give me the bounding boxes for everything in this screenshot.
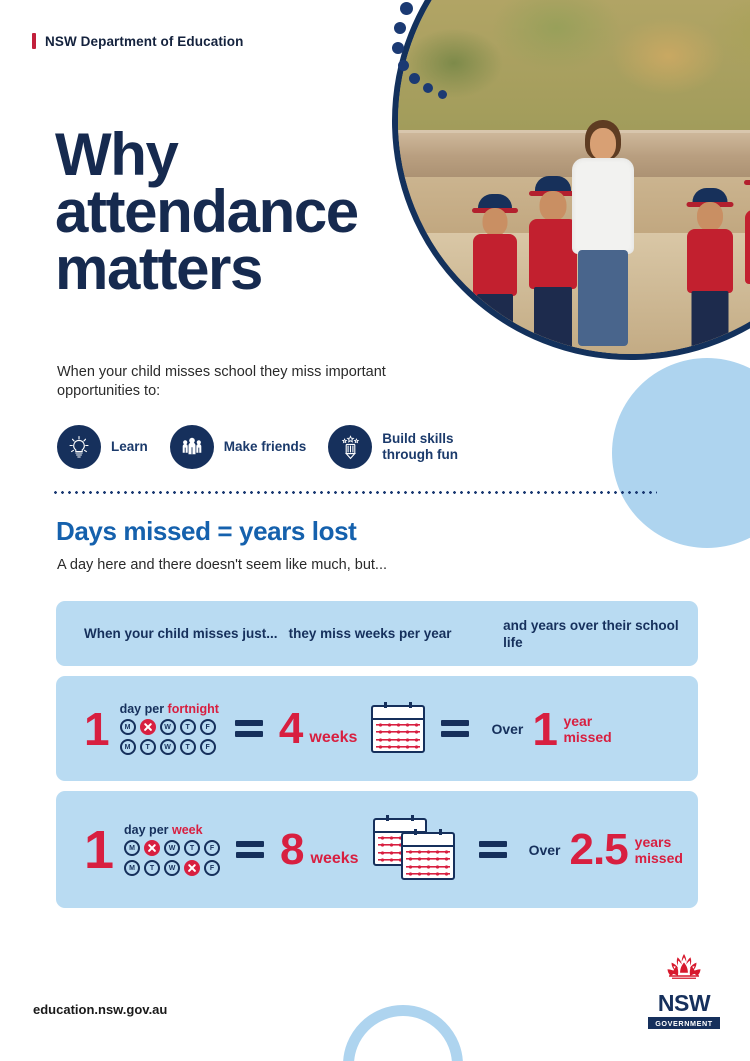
decorative-dot-arc <box>390 0 460 110</box>
day-circle: F <box>200 719 216 735</box>
day-circle: T <box>180 739 196 755</box>
week-1: M T W T F <box>120 719 219 735</box>
column-header-3: and years over their school life <box>503 617 698 651</box>
day-circle: T <box>140 739 156 755</box>
equals-sign-2 <box>479 841 507 858</box>
column-header-1: When your child misses just... <box>84 625 289 642</box>
nsw-logo-subtitle: GOVERNMENT <box>648 1017 720 1029</box>
frequency-label: day per fortnight <box>120 702 219 716</box>
day-circle: M <box>124 860 140 876</box>
decorative-ring-bottom <box>343 1005 463 1061</box>
table-row: 1 day per week M T W T F M T W T <box>56 791 698 908</box>
day-circle-missed: T <box>184 860 200 876</box>
waratah-icon <box>648 952 720 986</box>
nsw-logo-word: NSW <box>648 992 720 1015</box>
footer-website-url[interactable]: education.nsw.gov.au <box>33 1002 167 1017</box>
calendar-icon <box>371 705 425 753</box>
title-line-3: matters <box>55 235 262 302</box>
years-number: 1 <box>532 706 556 752</box>
column-header-2: they miss weeks per year <box>289 625 503 642</box>
week-day-grid: M T W T F M T W T F <box>124 840 220 876</box>
benefit-item-learn: Learn <box>57 425 148 469</box>
benefits-list: Learn <box>57 425 490 469</box>
day-circle-missed: T <box>144 840 160 856</box>
weeks-word: weeks <box>309 729 357 747</box>
hero-lede: When your child misses school they miss … <box>57 363 407 401</box>
equals-sign <box>236 841 264 858</box>
day-circle: W <box>164 840 180 856</box>
week-day-grid: M T W T F M T W T F <box>120 719 219 755</box>
frequency-label: day per week <box>124 823 220 837</box>
equals-sign-2 <box>441 720 469 737</box>
poster-page: NSW Department of Education Why attendan… <box>0 0 750 1061</box>
missed-count: 1 <box>84 823 112 877</box>
day-circle: W <box>164 860 180 876</box>
table-row: 1 day per fortnight M T W T F M T W <box>56 676 698 781</box>
week-1: M T W T F <box>124 840 220 856</box>
pencil-stars-icon <box>328 425 372 469</box>
over-label: Over <box>529 842 561 858</box>
section-title: Days missed = years lost <box>56 516 356 547</box>
day-circle: F <box>200 739 216 755</box>
weeks-number: 8 <box>280 828 303 872</box>
benefit-label: Learn <box>111 439 148 455</box>
years-missed-label: yearmissed <box>563 713 611 745</box>
years-missed-label: yearsmissed <box>635 834 683 866</box>
over-label: Over <box>491 721 523 737</box>
missed-count: 1 <box>84 706 108 752</box>
calendar-group <box>373 818 457 882</box>
day-circle: M <box>120 739 136 755</box>
table-header-panel: When your child misses just... they miss… <box>56 601 698 666</box>
brand-name: NSW Department of Education <box>45 34 243 49</box>
dotted-divider <box>52 491 657 494</box>
day-circle: T <box>184 840 200 856</box>
calendar-group <box>371 705 425 753</box>
benefit-item-build-skills: Build skills through fun <box>328 425 490 469</box>
day-circle-missed: T <box>140 719 156 735</box>
years-number: 2.5 <box>570 828 628 872</box>
weeks-word: weeks <box>311 850 359 868</box>
day-circle: M <box>124 840 140 856</box>
brand-lockup: NSW Department of Education <box>32 33 243 49</box>
page-title: Why attendance matters <box>55 126 358 297</box>
week-2: M T W T F <box>120 739 219 755</box>
nsw-government-logo: NSW GOVERNMENT <box>648 952 720 1029</box>
weeks-number: 4 <box>279 707 302 751</box>
day-circle: M <box>120 719 136 735</box>
week-2: M T W T F <box>124 860 220 876</box>
decorative-circle-right <box>612 358 750 548</box>
people-group-icon <box>170 425 214 469</box>
section-subtitle: A day here and there doesn't seem like m… <box>57 557 387 573</box>
benefit-label: Build skills through fun <box>382 431 490 463</box>
lightbulb-icon <box>57 425 101 469</box>
equals-sign <box>235 720 263 737</box>
brand-accent-bar <box>32 33 36 49</box>
benefit-label: Make friends <box>224 439 307 455</box>
day-circle: T <box>144 860 160 876</box>
day-circle: F <box>204 840 220 856</box>
day-circle: T <box>180 719 196 735</box>
benefit-item-make-friends: Make friends <box>170 425 307 469</box>
day-circle: F <box>204 860 220 876</box>
calendar-icon-2 <box>401 832 455 880</box>
day-circle: W <box>160 719 176 735</box>
day-circle: W <box>160 739 176 755</box>
